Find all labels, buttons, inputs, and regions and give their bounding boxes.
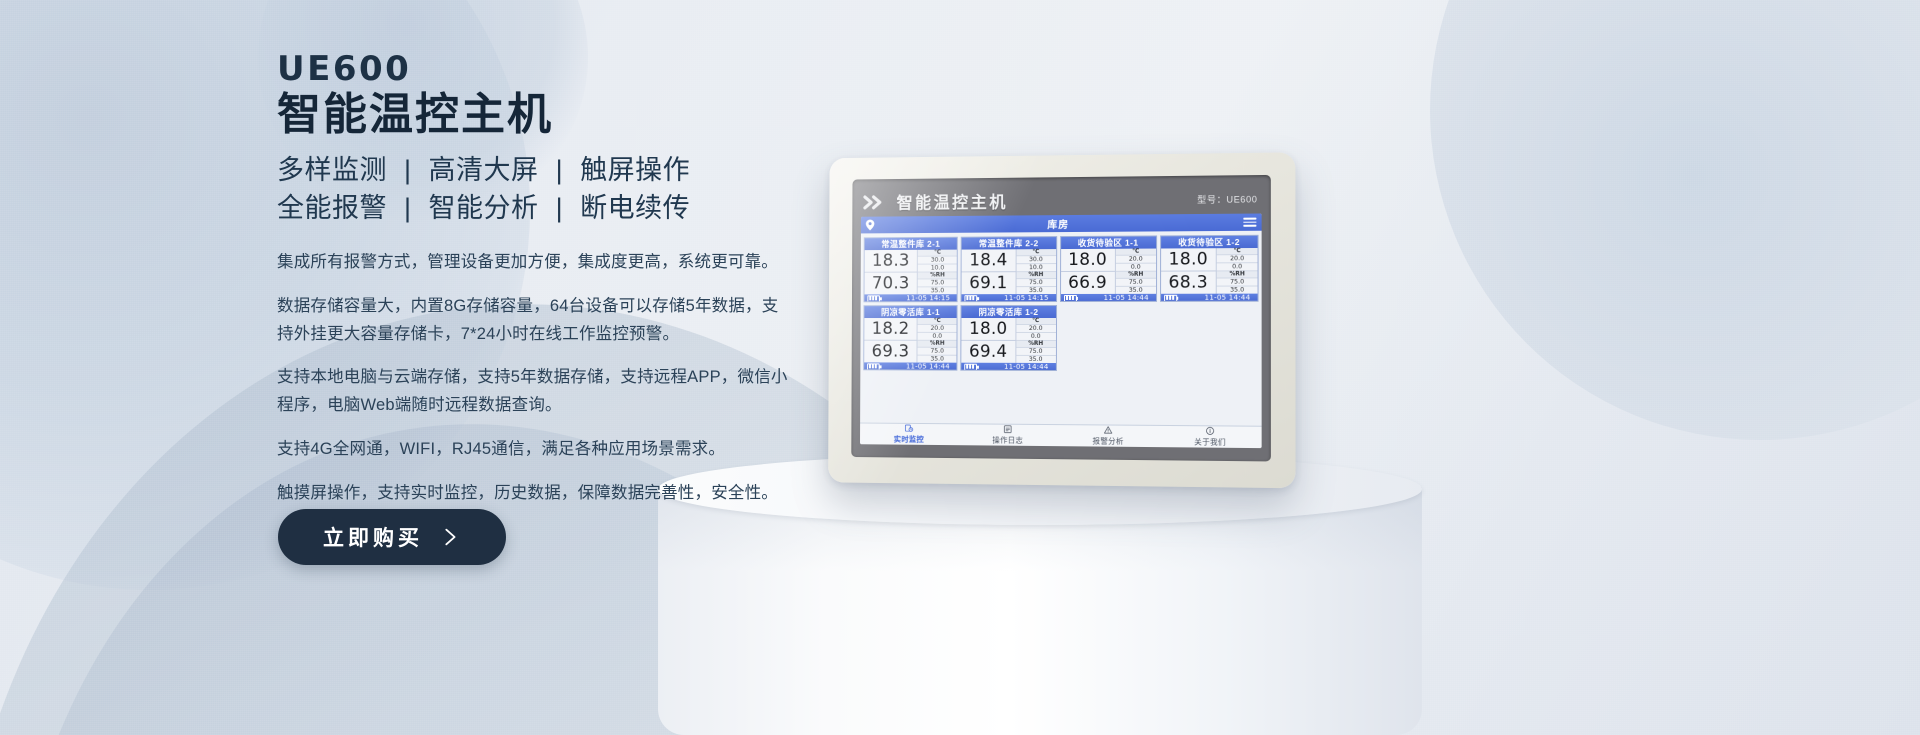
info-icon (1204, 426, 1215, 435)
feature-separator: | (395, 155, 421, 185)
sensor-card-title: 收货待验区 1-1 (1061, 236, 1156, 249)
feature-item: 触屏操作 (580, 155, 690, 185)
sensor-limits: ℃ 20.0 0.0 %RH 75.0 35.0 (1015, 318, 1056, 363)
sensor-limits: ℃ 30.0 10.0 %RH 75.0 35.0 (1015, 249, 1056, 294)
temp-unit: ℃ (1016, 318, 1056, 325)
temp-min: 0.0 (1016, 333, 1056, 341)
description-paragraph: 支持本地电脑与云端存储，支持5年数据存储，支持远程APP，微信小程序，电脑Web… (277, 364, 793, 419)
humidity-max: 75.0 (918, 279, 957, 287)
nav-label: 报警分析 (1093, 435, 1124, 446)
sensor-card-title: 收货待验区 1-2 (1161, 236, 1258, 249)
temp-min: 10.0 (1016, 264, 1056, 272)
description-paragraphs: 集成所有报警方式，管理设备更加方便，集成度更高，系统更可靠。 数据存储容量大，内… (277, 249, 837, 507)
sensor-readings: 18.2 69.3 (864, 318, 917, 363)
humidity-min: 35.0 (1116, 287, 1156, 294)
nav-item-realtime-monitor[interactable]: 实时监控 (860, 424, 958, 446)
temp-min: 0.0 (1217, 263, 1258, 271)
sensor-card[interactable]: 阴凉零活库 1-2 18.0 69.4 ℃ 20.0 0.0 %RH (961, 305, 1057, 371)
sensor-card[interactable]: 常温整件库 2-1 18.3 70.3 ℃ 30.0 10.0 %RH (864, 237, 959, 303)
sensor-card-title: 阴凉零活库 1-2 (962, 306, 1056, 318)
location-bar[interactable]: 库房 (861, 213, 1262, 233)
sensor-card-row: 阴凉零活库 1-1 18.2 69.3 ℃ 20.0 0.0 %RH (863, 305, 1258, 372)
sensor-readings: 18.4 69.1 (962, 249, 1015, 294)
humidity-value: 66.9 (1061, 272, 1115, 294)
product-copy-block: UE600 智能温控主机 多样监测 | 高清大屏 | 触屏操作 全能报警 | 智… (277, 52, 837, 523)
sensor-card-body: 18.2 69.3 ℃ 20.0 0.0 %RH 75.0 35.0 (864, 318, 957, 363)
battery-icon (867, 295, 880, 302)
sensor-timestamp: 11-05 14:44 (1004, 363, 1048, 371)
nav-label: 关于我们 (1194, 436, 1226, 447)
sensor-readings: 18.3 70.3 (865, 250, 918, 295)
battery-icon (964, 363, 977, 370)
sensor-card-placeholder (1160, 305, 1259, 372)
humidity-max: 75.0 (1116, 279, 1156, 287)
sensor-card-footer: 11-05 14:44 (1061, 294, 1156, 302)
device-screen: 库房 常温整件库 2-1 18.3 70.3 ℃ (860, 213, 1262, 448)
sensor-readings: 18.0 68.3 (1161, 248, 1216, 294)
feature-item: 多样监测 (277, 155, 387, 185)
humidity-value: 69.1 (962, 272, 1015, 294)
nav-item-alarm-analysis[interactable]: 报警分析 (1058, 425, 1159, 447)
feature-item: 全能报警 (277, 193, 387, 223)
humidity-value: 68.3 (1161, 271, 1216, 293)
sensor-limits: ℃ 20.0 0.0 %RH 75.0 35.0 (1115, 249, 1156, 294)
temperature-value: 18.0 (1161, 248, 1216, 271)
sensor-timestamp: 11-05 14:15 (906, 294, 950, 302)
humidity-value: 69.3 (864, 341, 917, 363)
device-title: 智能温控主机 (897, 189, 1008, 214)
sensor-readings: 18.0 66.9 (1061, 249, 1115, 294)
feature-separator: | (547, 193, 573, 223)
battery-icon (1164, 294, 1177, 301)
temp-max: 30.0 (918, 257, 957, 265)
description-paragraph: 触摸屏操作，支持实时监控，历史数据，保障数据完善性，安全性。 (277, 480, 793, 508)
device-bezel: 智能温控主机 型号：UE600 库房 常温整件库 2-1 (851, 175, 1271, 462)
sensor-readings: 18.0 69.4 (962, 318, 1015, 363)
feature-item: 断电续传 (580, 193, 690, 223)
temp-min: 10.0 (918, 264, 957, 272)
sensor-card-body: 18.0 68.3 ℃ 20.0 0.0 %RH 75.0 35.0 (1161, 248, 1258, 294)
hamburger-menu-icon[interactable] (1243, 218, 1256, 227)
sensor-card-footer: 11-05 14:44 (1161, 294, 1258, 302)
sensor-card-placeholder (1059, 305, 1156, 372)
temperature-value: 18.4 (962, 249, 1015, 272)
warning-triangle-icon (1103, 425, 1114, 434)
temperature-value: 18.2 (864, 318, 917, 341)
sensor-card-footer: 11-05 14:15 (864, 294, 956, 302)
sensor-timestamp: 11-05 14:44 (906, 363, 950, 371)
sensor-card[interactable]: 常温整件库 2-2 18.4 69.1 ℃ 30.0 10.0 %RH (961, 236, 1057, 302)
temp-min: 0.0 (918, 333, 957, 341)
description-paragraph: 数据存储容量大，内置8G存储容量，64台设备可以存储5年数据，支持外挂更大容量存… (277, 293, 793, 348)
temp-min: 0.0 (1116, 264, 1156, 272)
humidity-max: 75.0 (1016, 279, 1056, 287)
humidity-value: 70.3 (865, 273, 918, 295)
sensor-card[interactable]: 收货待验区 1-1 18.0 66.9 ℃ 20.0 0.0 %RH (1060, 235, 1157, 302)
temp-max: 20.0 (918, 325, 957, 333)
sensor-card-title: 阴凉零活库 1-1 (864, 306, 956, 318)
description-paragraph: 集成所有报警方式，管理设备更加方便，集成度更高，系统更可靠。 (277, 249, 793, 277)
humidity-max: 75.0 (1016, 348, 1056, 356)
battery-icon (867, 363, 880, 370)
nav-item-about-us[interactable]: 关于我们 (1159, 426, 1262, 448)
temperature-value: 18.0 (1061, 249, 1115, 272)
sensor-timestamp: 11-05 14:44 (1205, 294, 1251, 302)
sensor-card[interactable]: 收货待验区 1-2 18.0 68.3 ℃ 20.0 0.0 %RH (1160, 235, 1259, 302)
sensor-card[interactable]: 阴凉零活库 1-1 18.2 69.3 ℃ 20.0 0.0 %RH (863, 305, 958, 371)
buy-now-label: 立即购买 (323, 522, 423, 552)
temperature-value: 18.3 (865, 250, 918, 273)
feature-item: 智能分析 (429, 193, 539, 223)
temp-max: 30.0 (1016, 256, 1056, 264)
feature-list: 多样监测 | 高清大屏 | 触屏操作 全能报警 | 智能分析 | 断电续传 (277, 151, 837, 228)
sensor-limits: ℃ 20.0 0.0 %RH 75.0 35.0 (1216, 248, 1258, 294)
battery-icon (965, 295, 978, 302)
sensor-card-body: 18.4 69.1 ℃ 30.0 10.0 %RH 75.0 35.0 (962, 249, 1056, 294)
sensor-card-title: 常温整件库 2-1 (865, 238, 957, 250)
temp-max: 20.0 (1217, 255, 1258, 263)
brand-wordmark: UE600 (277, 52, 837, 86)
humidity-min: 35.0 (1217, 287, 1258, 294)
humidity-value: 69.4 (962, 341, 1015, 363)
description-paragraph: 支持4G全网通，WIFI，RJ45通信，满足各种应用场景需求。 (277, 436, 793, 464)
humidity-max: 75.0 (1217, 278, 1258, 286)
sensor-card-row: 常温整件库 2-1 18.3 70.3 ℃ 30.0 10.0 %RH (864, 235, 1259, 302)
device-title-bar: 智能温控主机 型号：UE600 (861, 183, 1262, 217)
sensor-card-body: 18.0 69.4 ℃ 20.0 0.0 %RH 75.0 35.0 (962, 318, 1056, 363)
hmi-touch-panel-device: 智能温控主机 型号：UE600 库房 常温整件库 2-1 (828, 152, 1295, 488)
device-bottom-nav: 实时监控 操作日志 报警分析 (860, 423, 1262, 449)
feature-line: 多样监测 | 高清大屏 | 触屏操作 (277, 151, 837, 189)
sensor-card-body: 18.3 70.3 ℃ 30.0 10.0 %RH 75.0 35.0 (865, 250, 958, 295)
sensor-card-footer: 11-05 14:44 (864, 362, 956, 370)
sensor-limits: ℃ 20.0 0.0 %RH 75.0 35.0 (917, 318, 957, 363)
sensor-card-footer: 11-05 14:15 (962, 294, 1056, 302)
sensor-limits: ℃ 30.0 10.0 %RH 75.0 35.0 (917, 250, 957, 295)
feature-line: 全能报警 | 智能分析 | 断电续传 (277, 189, 837, 227)
sensor-card-footer: 11-05 14:44 (962, 363, 1056, 371)
temperature-value: 18.0 (962, 318, 1015, 341)
buy-now-button[interactable]: 立即购买 (278, 509, 506, 565)
temp-unit: ℃ (918, 318, 957, 325)
sensor-card-title: 常温整件库 2-2 (962, 237, 1056, 249)
device-model-label: 型号：UE600 (1197, 192, 1257, 206)
sensor-card-grid: 常温整件库 2-1 18.3 70.3 ℃ 30.0 10.0 %RH (860, 231, 1262, 426)
nav-label: 实时监控 (894, 434, 924, 445)
log-icon (1002, 425, 1013, 434)
temp-max: 20.0 (1116, 256, 1156, 264)
feature-item: 高清大屏 (429, 155, 539, 185)
sensor-card-body: 18.0 66.9 ℃ 20.0 0.0 %RH 75.0 35.0 (1061, 249, 1156, 294)
sensor-timestamp: 11-05 14:44 (1104, 294, 1149, 302)
feature-separator: | (547, 155, 573, 185)
nav-item-operation-log[interactable]: 操作日志 (958, 424, 1058, 446)
humidity-max: 75.0 (918, 348, 957, 356)
monitor-icon (904, 424, 915, 433)
battery-icon (1063, 294, 1076, 301)
location-name: 库房 (861, 215, 1262, 233)
temp-max: 20.0 (1016, 325, 1056, 333)
chevron-right-icon (439, 526, 461, 548)
feature-separator: | (395, 193, 421, 223)
double-chevron-right-icon (863, 194, 888, 209)
sensor-timestamp: 11-05 14:15 (1004, 294, 1048, 302)
page-title: 智能温控主机 (277, 92, 837, 139)
nav-label: 操作日志 (992, 435, 1023, 446)
